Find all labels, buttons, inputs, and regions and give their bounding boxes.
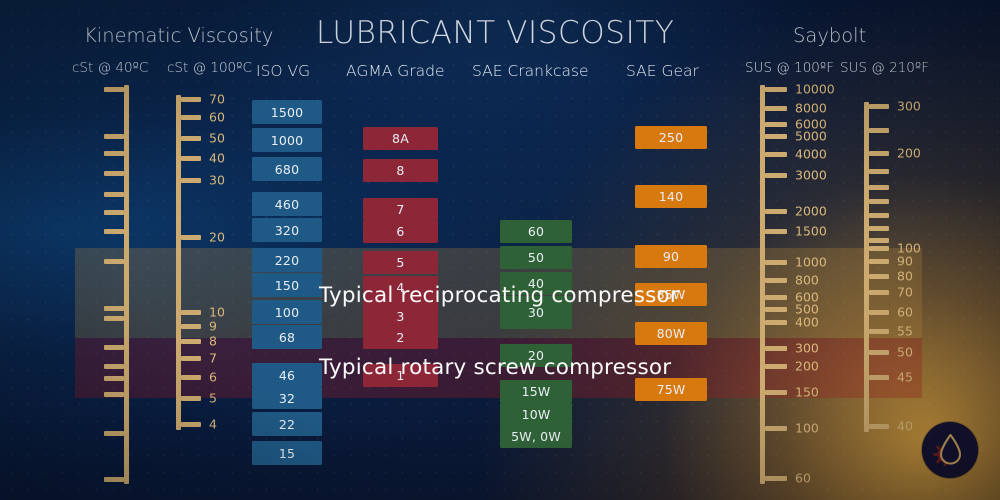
ruler-tick-label: 9 bbox=[209, 319, 217, 334]
ruler-tick-label: 6 bbox=[209, 370, 217, 385]
ruler-tick bbox=[765, 320, 787, 325]
grade-bar[interactable]: 150 bbox=[252, 273, 322, 297]
grade-bar[interactable]: 250 bbox=[635, 126, 707, 149]
grade-bar[interactable]: 460 bbox=[252, 192, 322, 216]
grade-bar[interactable]: 8 bbox=[363, 159, 438, 182]
ruler-tick bbox=[765, 364, 787, 369]
ruler-tick bbox=[104, 229, 124, 234]
ruler-tick-label: 60 bbox=[795, 471, 811, 486]
ruler-tick bbox=[765, 122, 787, 127]
ruler-tick bbox=[181, 396, 201, 401]
ruler-tick bbox=[104, 477, 124, 482]
ruler-tick-label: 5000 bbox=[795, 129, 827, 144]
grade-bar[interactable]: 8A bbox=[363, 127, 438, 150]
grade-bar[interactable]: 90 bbox=[635, 245, 707, 268]
ruler-tick-label: 80 bbox=[897, 269, 913, 284]
ruler-tick-label: 10 bbox=[209, 305, 225, 320]
column-header-cst100: cSt @ 100ºC bbox=[167, 60, 252, 76]
ruler-tick bbox=[869, 246, 889, 251]
ruler-tick bbox=[181, 356, 201, 361]
column-header-sus210: SUS @ 210ºF bbox=[840, 60, 929, 76]
ruler-tick-label: 800 bbox=[795, 273, 819, 288]
column-header-iso-vg: ISO VG bbox=[256, 62, 310, 80]
ruler-tick-label: 50 bbox=[209, 131, 225, 146]
ruler-tick-label: 70 bbox=[897, 285, 913, 300]
ruler-tick bbox=[181, 339, 201, 344]
ruler-tick bbox=[765, 260, 787, 265]
grade-bar[interactable]: 80W bbox=[635, 322, 707, 345]
column-header-cst40: cSt @ 40ºC bbox=[72, 60, 148, 76]
ruler-tick bbox=[765, 209, 787, 214]
ruler-tick bbox=[104, 392, 124, 397]
grade-bar[interactable]: 15W bbox=[500, 380, 572, 403]
ruler-tick bbox=[869, 238, 889, 243]
ruler-spine bbox=[760, 85, 765, 484]
ruler-tick bbox=[104, 259, 124, 264]
ruler-tick bbox=[869, 226, 889, 231]
ruler-tick bbox=[104, 376, 124, 381]
ruler-tick-label: 200 bbox=[795, 359, 819, 374]
grade-bar[interactable]: 50 bbox=[500, 246, 572, 269]
ruler-tick bbox=[765, 173, 787, 178]
ruler-tick bbox=[181, 97, 201, 102]
grade-bar[interactable]: 320 bbox=[252, 218, 322, 242]
ruler-tick bbox=[104, 210, 124, 215]
ruler-tick bbox=[869, 290, 889, 295]
grade-bar[interactable]: 68 bbox=[252, 325, 322, 349]
ruler-tick bbox=[104, 87, 124, 92]
grade-bar[interactable]: 32 bbox=[252, 387, 322, 409]
ruler-tick-label: 100 bbox=[795, 421, 819, 436]
ruler-tick bbox=[869, 310, 889, 315]
column-header-sus100: SUS @ 100ºF bbox=[745, 60, 834, 76]
ruler-tick-label: 60 bbox=[209, 110, 225, 125]
ruler-tick bbox=[765, 134, 787, 139]
ruler-tick-label: 300 bbox=[795, 341, 819, 356]
ruler-tick-label: 1000 bbox=[795, 255, 827, 270]
ruler-tick-label: 3000 bbox=[795, 168, 827, 183]
grade-bar[interactable]: 680 bbox=[252, 157, 322, 181]
ruler-tick bbox=[181, 310, 201, 315]
ruler-tick-label: 40 bbox=[209, 151, 225, 166]
ruler-tick bbox=[869, 169, 889, 174]
ruler-tick bbox=[104, 431, 124, 436]
ruler-tick-label: 1500 bbox=[795, 224, 827, 239]
droplet-icon bbox=[922, 422, 978, 478]
ruler-tick bbox=[181, 324, 201, 329]
ruler-tick-label: 4000 bbox=[795, 147, 827, 162]
ruler-tick bbox=[181, 115, 201, 120]
grade-bar[interactable]: 22 bbox=[252, 412, 322, 436]
ruler-tick bbox=[104, 364, 124, 369]
band-label-reciprocating: Typical reciprocating compressor bbox=[319, 283, 679, 308]
grade-bar[interactable]: 75W bbox=[635, 378, 707, 401]
ruler-tick-label: 7 bbox=[209, 351, 217, 366]
ruler-tick bbox=[869, 424, 889, 429]
ruler-tick bbox=[765, 346, 787, 351]
ruler-tick bbox=[104, 345, 124, 350]
ruler-tick bbox=[765, 229, 787, 234]
ruler-tick bbox=[104, 316, 124, 321]
ruler-tick bbox=[869, 104, 889, 109]
column-header-sae-gear: SAE Gear bbox=[626, 62, 699, 80]
ruler-tick-label: 150 bbox=[795, 385, 819, 400]
ruler-tick-label: 5 bbox=[209, 391, 217, 406]
grade-bar[interactable]: 1000 bbox=[252, 128, 322, 152]
ruler-tick bbox=[181, 156, 201, 161]
ruler-tick bbox=[869, 213, 889, 218]
grade-bar[interactable]: 60 bbox=[500, 220, 572, 243]
grade-bar[interactable]: 2 bbox=[363, 326, 438, 349]
ruler-tick-label: 40 bbox=[897, 419, 913, 434]
ruler-tick bbox=[869, 329, 889, 334]
ruler-tick-label: 2000 bbox=[795, 204, 827, 219]
ruler-tick-label: 8000 bbox=[795, 101, 827, 116]
ruler-tick bbox=[765, 390, 787, 395]
ruler-tick bbox=[765, 295, 787, 300]
grade-bar[interactable]: 15 bbox=[252, 441, 322, 465]
ruler-tick bbox=[869, 199, 889, 204]
ruler-tick bbox=[104, 151, 124, 156]
grade-bar[interactable]: 140 bbox=[635, 185, 707, 208]
ruler-tick-label: 60 bbox=[897, 305, 913, 320]
ruler-tick-label: 45 bbox=[897, 370, 913, 385]
grade-bar[interactable]: 1500 bbox=[252, 100, 322, 124]
ruler-tick-label: 300 bbox=[897, 99, 921, 114]
grade-bar[interactable]: 6 bbox=[363, 220, 438, 243]
ruler-tick-label: 10000 bbox=[795, 82, 835, 97]
ruler-tick bbox=[869, 128, 889, 133]
group-title-saybolt: Saybolt bbox=[793, 24, 866, 47]
ruler-tick bbox=[765, 106, 787, 111]
ruler-tick bbox=[181, 375, 201, 380]
ruler-tick bbox=[765, 307, 787, 312]
ruler-tick bbox=[181, 178, 201, 183]
ruler-tick bbox=[869, 151, 889, 156]
ruler-tick bbox=[869, 259, 889, 264]
ruler-tick-label: 50 bbox=[897, 345, 913, 360]
grade-bar[interactable]: 10W bbox=[500, 403, 572, 426]
ruler-tick bbox=[181, 235, 201, 240]
ruler-tick bbox=[869, 274, 889, 279]
ruler-tick bbox=[181, 422, 201, 427]
viscosity-chart-canvas: 2000100080060050040030020010080605040302… bbox=[0, 0, 1000, 500]
ruler-tick bbox=[104, 306, 124, 311]
ruler-spine bbox=[124, 85, 129, 484]
ruler-tick-label: 400 bbox=[795, 315, 819, 330]
group-title-kinematic: Kinematic Viscosity bbox=[84, 24, 273, 47]
oil-droplet-gear-logo bbox=[922, 422, 978, 478]
ruler-tick-label: 4 bbox=[209, 417, 217, 432]
ruler-tick bbox=[104, 134, 124, 139]
ruler-tick bbox=[869, 350, 889, 355]
ruler-tick-label: 30 bbox=[209, 173, 225, 188]
grade-bar[interactable]: 7 bbox=[363, 198, 438, 220]
ruler-tick bbox=[869, 375, 889, 380]
ruler-tick-label: 8 bbox=[209, 334, 217, 349]
ruler-tick bbox=[765, 87, 787, 92]
ruler-spine bbox=[176, 95, 181, 430]
ruler-tick bbox=[181, 136, 201, 141]
ruler-tick-label: 20 bbox=[209, 230, 225, 245]
column-header-agma: AGMA Grade bbox=[346, 62, 445, 80]
ruler-tick-label: 55 bbox=[897, 324, 913, 339]
ruler-tick bbox=[765, 278, 787, 283]
ruler-tick bbox=[765, 476, 787, 481]
ruler-tick bbox=[104, 192, 124, 197]
ruler-tick-label: 70 bbox=[209, 92, 225, 107]
ruler-tick-label: 200 bbox=[897, 146, 921, 161]
ruler-tick-label: 90 bbox=[897, 254, 913, 269]
ruler-tick bbox=[765, 426, 787, 431]
ruler-tick bbox=[104, 171, 124, 176]
ruler-tick bbox=[869, 185, 889, 190]
ruler-tick bbox=[765, 152, 787, 157]
column-header-sae-crankcase: SAE Crankcase bbox=[472, 62, 589, 80]
page-title: LUBRICANT VISCOSITY bbox=[316, 15, 674, 51]
grade-bar[interactable]: 220 bbox=[252, 248, 322, 272]
grade-bar[interactable]: 5 bbox=[363, 251, 438, 274]
band-label-rotary: Typical rotary screw compressor bbox=[319, 355, 671, 380]
grade-bar[interactable]: 100 bbox=[252, 300, 322, 324]
grade-bar[interactable]: 46 bbox=[252, 363, 322, 387]
grade-bar[interactable]: 5W, 0W bbox=[500, 425, 572, 448]
